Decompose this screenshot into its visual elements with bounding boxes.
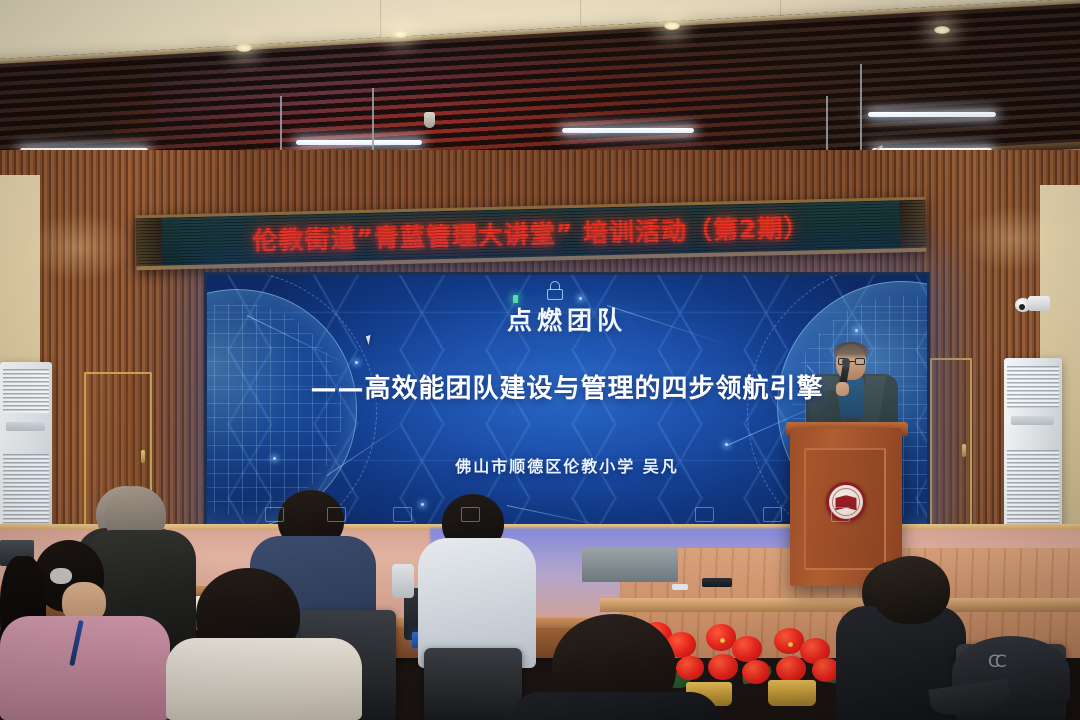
- led-banner-text: 伦教街道”青蓝管理大讲堂” 培训活动（第2期）: [136, 206, 927, 261]
- ac-control-panel[interactable]: [6, 422, 44, 431]
- flower-petal: [676, 656, 704, 680]
- power-strip: [702, 578, 732, 587]
- flower-petal: [708, 654, 738, 680]
- ceiling-speaker: [424, 112, 435, 128]
- cap-logo-icon: CC: [988, 652, 1002, 672]
- attendee-body: [510, 692, 720, 720]
- fluorescent-tube: [296, 140, 422, 145]
- attendee-head: [872, 556, 950, 624]
- attendee-body: [166, 638, 362, 720]
- recessed-downlight: [392, 30, 408, 38]
- attendee-body: [0, 616, 170, 720]
- microphone-capsule: [842, 358, 850, 366]
- ceiling-hanger-rod: [860, 64, 862, 164]
- slide-deco-icon: [461, 507, 480, 522]
- recessed-downlight: [236, 44, 252, 52]
- slide-deco-icon: [763, 507, 782, 522]
- hair-tie: [50, 568, 72, 584]
- paper-cup: [392, 564, 414, 598]
- flower-center: [720, 638, 725, 643]
- security-camera-lens: [1019, 304, 1025, 310]
- slide-icon-row: [265, 505, 870, 527]
- audience-chair: [424, 648, 522, 720]
- door-handle[interactable]: [962, 444, 966, 457]
- slide-network-node: [579, 297, 582, 300]
- slide-network-node: [725, 443, 728, 446]
- flower-center: [788, 642, 793, 647]
- lecture-hall-photo: 伦教街道”青蓝管理大讲堂” 培训活动（第2期） 点燃团队 ——高效能团队建设与管…: [0, 0, 1080, 720]
- power-adapter: [672, 584, 688, 590]
- fluorescent-tube: [868, 112, 996, 117]
- security-camera-housing: [1028, 296, 1050, 311]
- flower-pot: [768, 680, 816, 706]
- slide-deco-icon: [327, 507, 346, 522]
- slide-deco-icon: [695, 507, 714, 522]
- glasses-lens: [855, 358, 865, 365]
- air-conditioner-left: [0, 362, 52, 550]
- slide-presenter: 佛山市顺德区伦教小学 吴凡: [207, 453, 927, 477]
- fluorescent-tube: [562, 128, 694, 133]
- door-handle[interactable]: [141, 450, 145, 463]
- slide-title: 点燃团队: [207, 301, 927, 337]
- slide-deco-icon: [393, 507, 412, 522]
- stage-edge-lip: [600, 598, 1080, 612]
- recessed-downlight: [934, 26, 950, 34]
- slide-subtitle: ——高效能团队建设与管理的四步领航引擎: [207, 368, 927, 405]
- ac-vent-grill: [3, 369, 49, 413]
- flower-petal: [742, 660, 770, 684]
- av-equipment-box: [582, 548, 678, 582]
- flower-petal: [732, 636, 762, 662]
- side-door-right[interactable]: [930, 358, 972, 530]
- recessed-downlight: [664, 22, 680, 30]
- speaker-hair: [834, 342, 868, 359]
- flower-petal: [776, 656, 806, 682]
- ac-vent-grill: [1007, 366, 1058, 408]
- slide-deco-icon: [265, 507, 284, 522]
- slide-deco-icon: [831, 507, 850, 522]
- lock-icon: [547, 289, 563, 300]
- slide-network-node: [355, 361, 358, 364]
- ac-control-panel[interactable]: [1011, 416, 1054, 425]
